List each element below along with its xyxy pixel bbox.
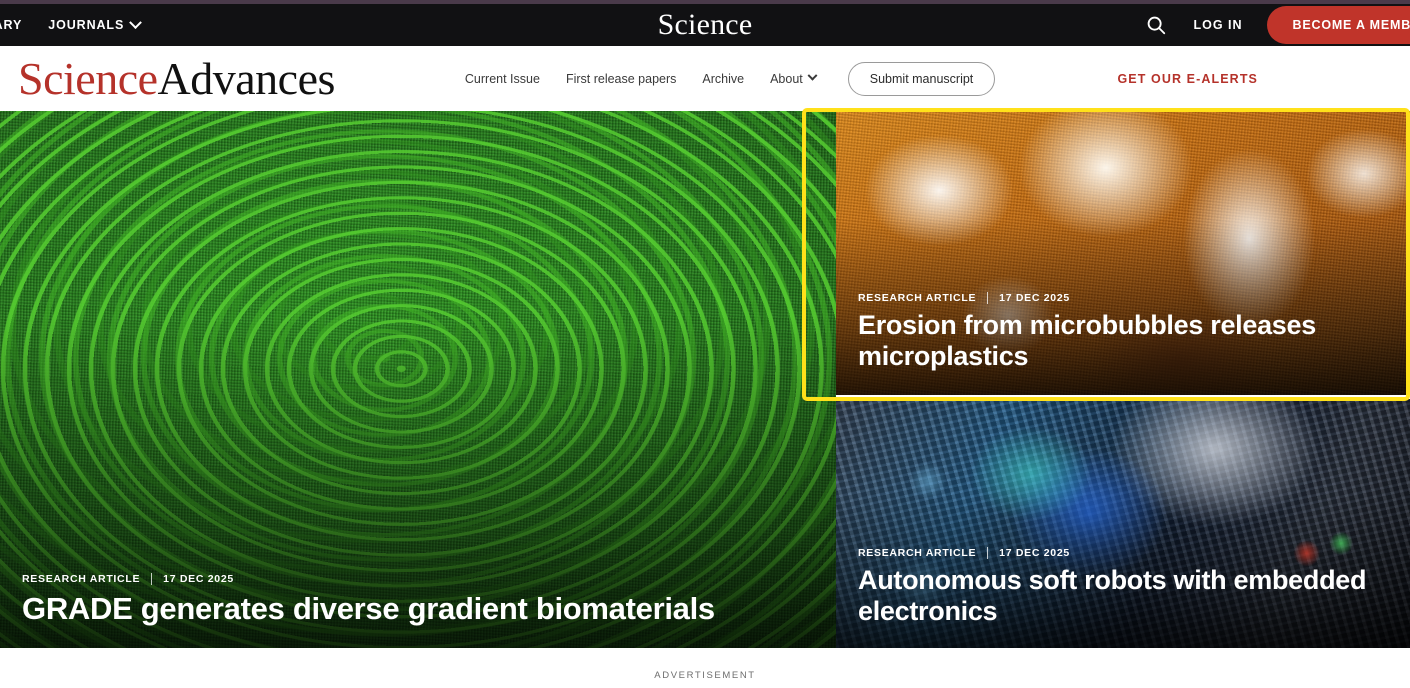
become-a-member-button[interactable]: BECOME A MEMBER xyxy=(1267,6,1410,44)
nav-item-about-label: About xyxy=(770,72,803,86)
nav-item-archive[interactable]: Archive xyxy=(702,72,744,86)
hero-bottom-right-date: 17 DEC 2025 xyxy=(999,547,1070,559)
top-utility-bar: TARY JOURNALS Science LOG IN BECOME A ME… xyxy=(0,4,1410,46)
submit-manuscript-button[interactable]: Submit manuscript xyxy=(848,62,996,96)
logo-word-advances: Advances xyxy=(158,53,335,104)
journal-header: ScienceAdvances Current Issue First rele… xyxy=(0,46,1410,111)
science-advances-logo[interactable]: ScienceAdvances xyxy=(18,56,335,102)
hero-bottom-right-meta: RESEARCH ARTICLE 17 DEC 2025 xyxy=(858,547,1388,559)
hero-top-right-date: 17 DEC 2025 xyxy=(999,292,1070,304)
nav-item-about[interactable]: About xyxy=(770,72,816,86)
chevron-down-icon xyxy=(807,71,817,81)
advertisement-strip: ADVERTISEMENT xyxy=(0,648,1410,688)
hero-bottom-right-text: RESEARCH ARTICLE 17 DEC 2025 Autonomous … xyxy=(836,547,1410,648)
advertisement-label: ADVERTISEMENT xyxy=(0,670,1410,681)
journal-nav: Current Issue First release papers Archi… xyxy=(465,62,995,96)
top-nav-right: LOG IN BECOME A MEMBER xyxy=(1143,4,1410,46)
advertisement-slot: ADVERTISEMENT xyxy=(0,648,1410,688)
logo-word-science: Science xyxy=(18,53,158,104)
meta-divider xyxy=(151,573,152,585)
nav-item-archive-label: Archive xyxy=(702,72,744,86)
hero-article-grid: RESEARCH ARTICLE 17 DEC 2025 GRADE gener… xyxy=(0,111,1410,648)
top-nav-item-truncated[interactable]: TARY xyxy=(0,18,22,32)
search-icon[interactable] xyxy=(1143,12,1169,38)
login-link[interactable]: LOG IN xyxy=(1193,18,1242,32)
hero-main-article-type: RESEARCH ARTICLE xyxy=(22,573,140,585)
chevron-down-icon xyxy=(129,16,142,29)
hero-main-text: RESEARCH ARTICLE 17 DEC 2025 GRADE gener… xyxy=(0,573,836,648)
hero-top-right-article-type: RESEARCH ARTICLE xyxy=(858,292,976,304)
hero-main-date: 17 DEC 2025 xyxy=(163,573,234,585)
top-nav-item-journals-label: JOURNALS xyxy=(48,18,124,32)
hero-top-right-meta: RESEARCH ARTICLE 17 DEC 2025 xyxy=(858,292,1388,304)
top-nav-item-journals[interactable]: JOURNALS xyxy=(48,18,140,32)
hero-card-bottom-right[interactable]: RESEARCH ARTICLE 17 DEC 2025 Autonomous … xyxy=(836,399,1410,648)
nav-item-first-release-papers-label: First release papers xyxy=(566,72,676,86)
top-nav-item-truncated-label: TARY xyxy=(0,18,22,32)
hero-main-meta: RESEARCH ARTICLE 17 DEC 2025 xyxy=(22,573,814,585)
top-nav-left: TARY JOURNALS xyxy=(0,18,140,32)
hero-bottom-right-article-type: RESEARCH ARTICLE xyxy=(858,547,976,559)
meta-divider xyxy=(987,547,988,559)
hero-card-main[interactable]: RESEARCH ARTICLE 17 DEC 2025 GRADE gener… xyxy=(0,111,836,648)
nav-item-first-release-papers[interactable]: First release papers xyxy=(566,72,676,86)
hero-bottom-right-title[interactable]: Autonomous soft robots with embedded ele… xyxy=(858,565,1388,626)
hero-card-top-right[interactable]: RESEARCH ARTICLE 17 DEC 2025 Erosion fro… xyxy=(836,111,1410,395)
hero-main-title[interactable]: GRADE generates diverse gradient biomate… xyxy=(22,591,814,626)
nav-item-current-issue[interactable]: Current Issue xyxy=(465,72,540,86)
get-our-e-alerts-link[interactable]: GET OUR E-ALERTS xyxy=(1117,72,1258,86)
meta-divider xyxy=(987,292,988,304)
science-brand-label[interactable]: Science xyxy=(658,8,753,42)
hero-top-right-text: RESEARCH ARTICLE 17 DEC 2025 Erosion fro… xyxy=(836,292,1410,395)
nav-item-current-issue-label: Current Issue xyxy=(465,72,540,86)
hero-top-right-title[interactable]: Erosion from microbubbles releases micro… xyxy=(858,310,1388,371)
